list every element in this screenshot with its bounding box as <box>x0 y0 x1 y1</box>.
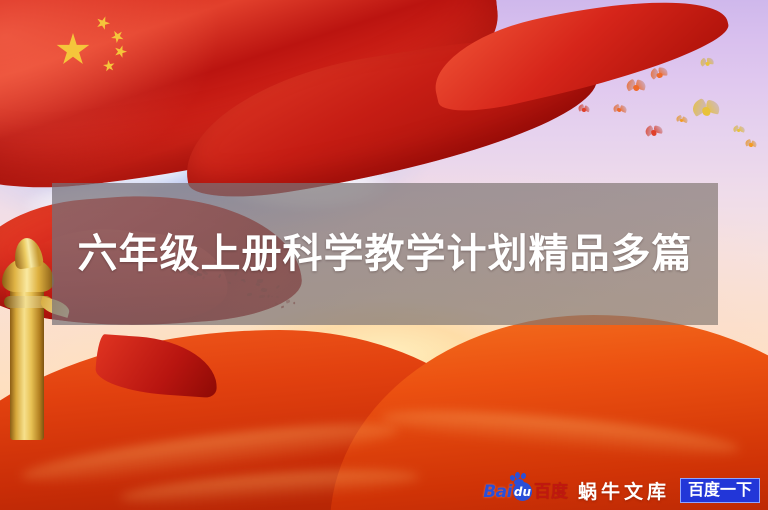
bird-icon <box>613 105 626 113</box>
page-title: 六年级上册科学教学计划精品多篇 <box>75 229 695 279</box>
watermark-bar: Bai du 百度 蜗牛文库 百度一下 <box>483 476 760 504</box>
baidu-search-button[interactable]: 百度一下 <box>680 478 760 503</box>
cover-image: 六年级上册科学教学计划精品多篇 Bai du 百度 蜗牛文库 百度一下 <box>0 0 768 510</box>
bird-icon <box>676 116 687 123</box>
baidu-du-badge: du <box>513 482 532 501</box>
bird-icon <box>745 139 758 148</box>
baidu-wordmark-cn: 百度 <box>534 484 568 501</box>
bird-icon <box>625 79 646 93</box>
baidu-wordmark-latin: Bai <box>483 484 512 501</box>
baidu-logo[interactable]: Bai du 百度 <box>483 479 568 501</box>
bird-icon <box>733 126 744 134</box>
title-overlay-card: 六年级上册科学教学计划精品多篇 <box>52 183 718 325</box>
site-brand-label: 蜗牛文库 <box>578 477 670 504</box>
bird-icon <box>578 105 590 113</box>
